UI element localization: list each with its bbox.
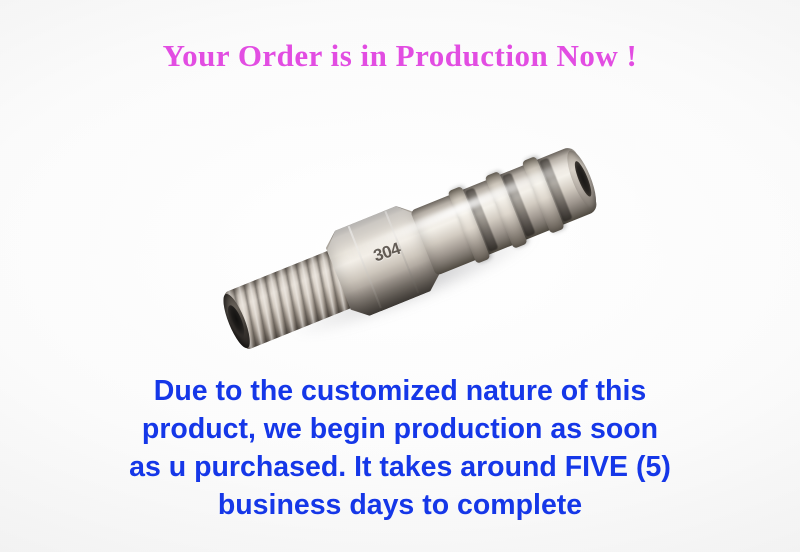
notice-line-3: as u purchased. It takes around FIVE (5) [40,448,760,486]
production-notice: Due to the customized nature of this pro… [40,372,760,524]
notice-line-4: business days to complete [40,486,760,524]
notice-line-2: product, we begin production as soon [40,410,760,448]
product-photo: 304 [215,140,615,360]
headline-text: Your Order is in Production Now ! [0,38,800,74]
image-canvas: Your Order is in Production Now ! 304 [0,0,800,552]
notice-line-1: Due to the customized nature of this [40,372,760,410]
